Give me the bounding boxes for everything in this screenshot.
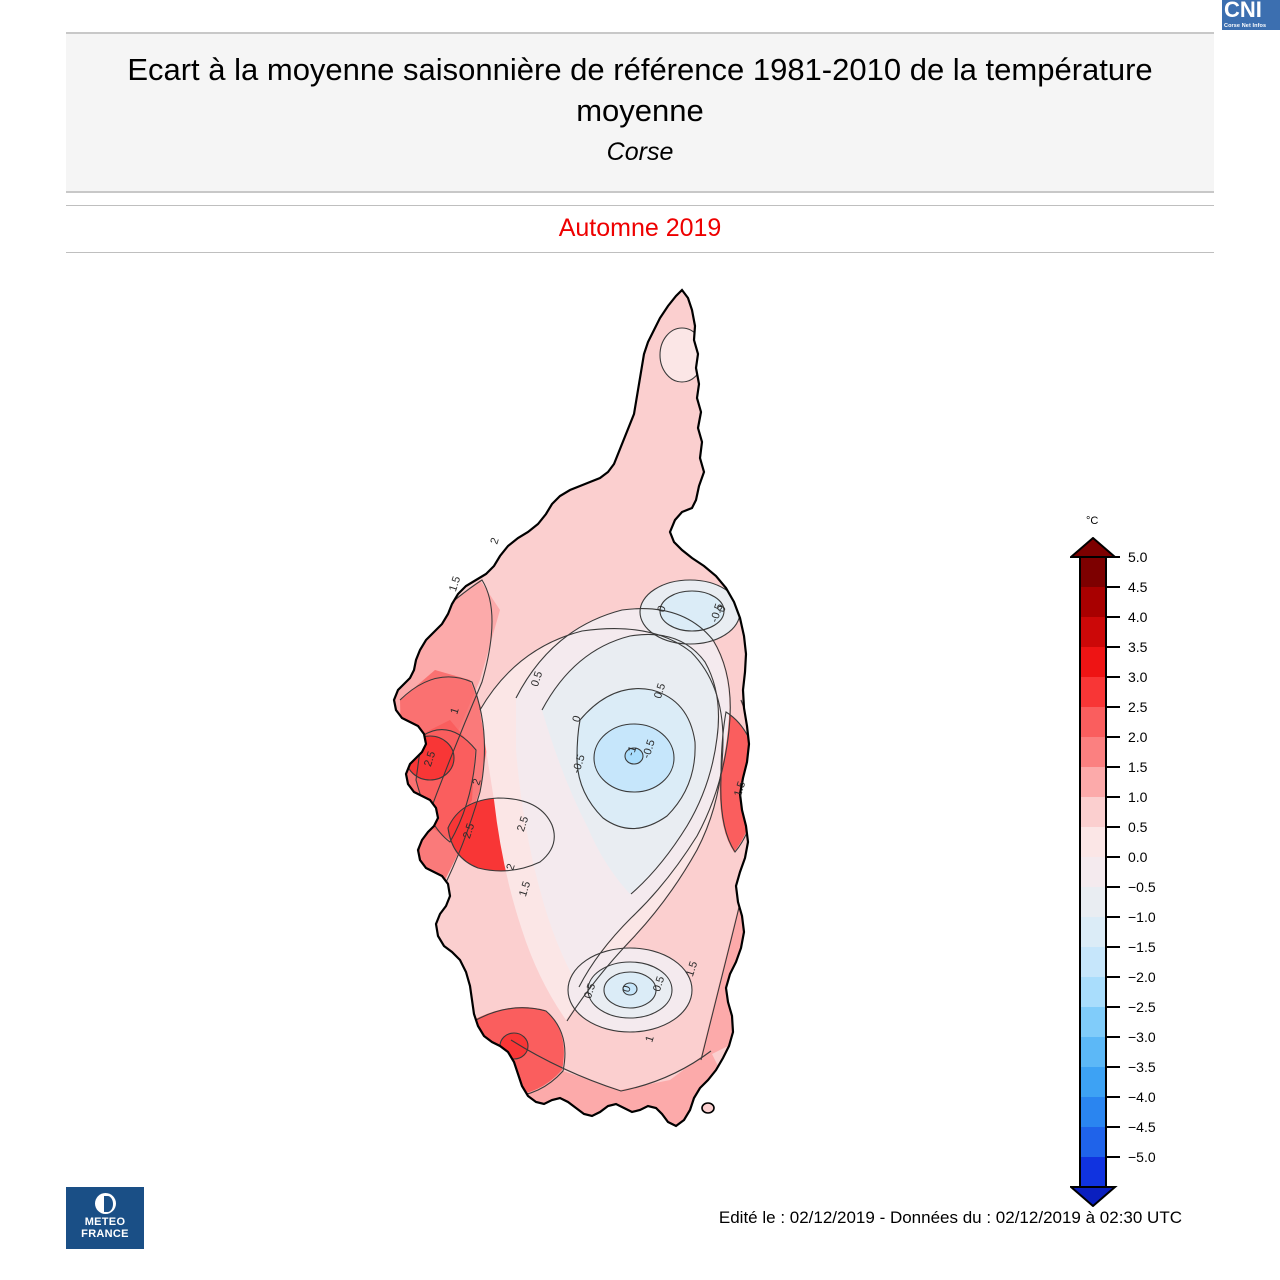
colorbar: °C 5.04.54.03.53.02.52.01.51.00.50.0−0.5… [1070, 515, 1200, 1215]
colorbar-band [1080, 947, 1106, 978]
colorbar-band [1080, 737, 1106, 768]
colorbar-tick-label: −3.5 [1128, 1059, 1156, 1075]
colorbar-band [1080, 887, 1106, 918]
period-band: Automne 2019 [66, 205, 1214, 253]
colorbar-band [1080, 647, 1106, 678]
colorbar-tick-labels: 5.04.54.03.53.02.52.01.51.00.50.0−0.5−1.… [1128, 549, 1156, 1165]
colorbar-tick-label: −1.0 [1128, 909, 1156, 925]
meteo-france-logo-line1: METEO [66, 1216, 144, 1228]
colorbar-band [1080, 1097, 1106, 1128]
meteo-france-logo: METEO FRANCE [66, 1187, 144, 1249]
colorbar-tick-label: 0.0 [1128, 849, 1148, 865]
colorbar-band [1080, 677, 1106, 708]
map-contour-fill [330, 280, 810, 1190]
colorbar-band [1080, 1157, 1106, 1188]
colorbar-tick-label: 1.0 [1128, 789, 1148, 805]
colorbar-band [1080, 617, 1106, 648]
colorbar-tick-label: 3.0 [1128, 669, 1148, 685]
offshore-islet [702, 1103, 714, 1113]
colorbar-band [1080, 707, 1106, 738]
colorbar-bands [1080, 557, 1106, 1188]
colorbar-tick-label: −2.5 [1128, 999, 1156, 1015]
footer-note: Edité le : 02/12/2019 - Données du : 02/… [719, 1208, 1182, 1228]
colorbar-tick-label: 5.0 [1128, 549, 1148, 565]
meteo-france-mark-icon [95, 1193, 116, 1214]
page-subtitle: Corse [66, 132, 1214, 167]
colorbar-tick-label: 2.5 [1128, 699, 1148, 715]
cni-logo-subtitle: Corse Net Infos [1224, 23, 1266, 29]
colorbar-tick-label: 2.0 [1128, 729, 1148, 745]
colorbar-tick-label: 4.0 [1128, 609, 1148, 625]
contour-label: 2 [488, 536, 501, 546]
colorbar-band [1080, 827, 1106, 858]
colorbar-tick-label: −3.0 [1128, 1029, 1156, 1045]
colorbar-band [1080, 1037, 1106, 1068]
colorbar-tick-label: 0.5 [1128, 819, 1148, 835]
meteo-france-logo-line2: FRANCE [66, 1228, 144, 1240]
period-label: Automne 2019 [66, 206, 1214, 243]
colorbar-band [1080, 857, 1106, 888]
cni-logo-text: CNI [1224, 0, 1262, 23]
colorbar-arrow-down-icon [1071, 1187, 1115, 1206]
page-title: Ecart à la moyenne saisonnière de référe… [66, 34, 1214, 132]
colorbar-band [1080, 797, 1106, 828]
corsica-anomaly-map: 21.50.50-0.5010-0.5-1-0.50.51.52.522.52.… [330, 280, 810, 1190]
colorbar-tick-label: −4.0 [1128, 1089, 1156, 1105]
colorbar-tick-label: 3.5 [1128, 639, 1148, 655]
colorbar-band [1080, 917, 1106, 948]
colorbar-band [1080, 1007, 1106, 1038]
cni-logo: CNI Corse Net Infos [1222, 0, 1280, 30]
title-band: Ecart à la moyenne saisonnière de référe… [66, 32, 1214, 193]
colorbar-ticks [1106, 557, 1120, 1157]
colorbar-band [1080, 1067, 1106, 1098]
colorbar-tick-label: 1.5 [1128, 759, 1148, 775]
colorbar-band [1080, 557, 1106, 588]
colorbar-tick-label: 4.5 [1128, 579, 1148, 595]
colorbar-band [1080, 1127, 1106, 1158]
colorbar-tick-label: −0.5 [1128, 879, 1156, 895]
colorbar-tick-label: −1.5 [1128, 939, 1156, 955]
colorbar-unit-label: °C [1086, 515, 1098, 527]
colorbar-arrow-up-icon [1071, 538, 1115, 557]
colorbar-band [1080, 587, 1106, 618]
colorbar-band [1080, 977, 1106, 1008]
colorbar-tick-label: −2.0 [1128, 969, 1156, 985]
colorbar-tick-label: −5.0 [1128, 1149, 1156, 1165]
colorbar-tick-label: −4.5 [1128, 1119, 1156, 1135]
colorbar-band [1080, 767, 1106, 798]
